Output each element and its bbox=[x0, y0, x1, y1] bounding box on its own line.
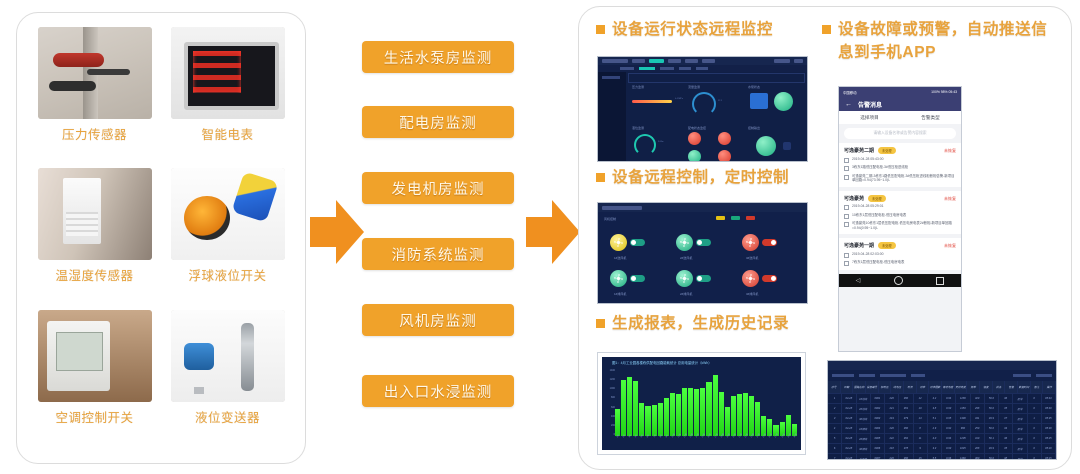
control-legend bbox=[716, 216, 755, 220]
app-filter-bar: 选择项目 告警类型 bbox=[839, 111, 961, 124]
fan-control-row bbox=[676, 270, 711, 287]
device-item: 浮球液位开关 bbox=[162, 168, 293, 307]
table-cell: 35 bbox=[999, 404, 1013, 413]
table-cell: 04-28 bbox=[842, 404, 856, 413]
table-cell: 3.8 bbox=[928, 404, 942, 413]
table-cell: 50.1 bbox=[985, 434, 999, 443]
subnav-item-active[interactable] bbox=[639, 67, 655, 70]
table-cell: 04-28 bbox=[842, 424, 856, 433]
section-title: 配电状态监控 bbox=[688, 126, 706, 130]
scenario-label-entrance-flood[interactable]: 出入口水浸监测 bbox=[362, 375, 514, 407]
table-cell: 0 bbox=[1028, 394, 1042, 403]
pump-card[interactable] bbox=[750, 93, 768, 109]
home-circle-icon[interactable] bbox=[894, 276, 903, 285]
feature-heading-text: 设备远程控制，定时控制 bbox=[612, 166, 789, 189]
phone-statusbar: 中国移动 100% 98% 05:43 bbox=[839, 87, 961, 97]
nav-logo bbox=[602, 59, 628, 63]
nav-item[interactable] bbox=[668, 59, 681, 63]
nav-item-active[interactable] bbox=[649, 59, 664, 63]
table-cell: 0.94 bbox=[942, 394, 956, 403]
table-cell: 0.95 bbox=[942, 414, 956, 423]
table-cell: 0003 bbox=[871, 414, 885, 423]
table-cell: 0007 bbox=[871, 454, 885, 460]
table-cell: 1#进线 bbox=[857, 394, 871, 403]
level-gauge bbox=[634, 134, 656, 156]
app-appbar: ← 告警消息 bbox=[839, 97, 961, 111]
toolbar-button[interactable] bbox=[1013, 374, 1031, 377]
legend-swatch-running bbox=[716, 216, 725, 220]
filter-alarm-type[interactable]: 告警类型 bbox=[921, 115, 939, 121]
filter-project[interactable]: 选择项目 bbox=[860, 115, 878, 121]
alarm-bullet-icon bbox=[844, 205, 849, 210]
table-cell: 1045 bbox=[956, 444, 970, 453]
toolbar-button[interactable] bbox=[832, 374, 854, 377]
table-cell: 10 bbox=[914, 404, 928, 413]
table-header-cell: 数据时间 bbox=[1018, 381, 1031, 393]
table-cell: 36 bbox=[999, 434, 1013, 443]
alarm-detail-text: 10栋东1层低压配电柜-低压电房电表 bbox=[852, 213, 906, 218]
chart-bar bbox=[743, 393, 748, 436]
table-cell: 35 bbox=[999, 444, 1013, 453]
alarm-list-item[interactable]: 可逸豪苑一期未处理未恢复2019-04-28 02:03:007栋东1层低压配电… bbox=[839, 238, 961, 270]
table-cell: 05:35 bbox=[1042, 414, 1056, 423]
dashboard-body: 压力监测 流量监测 水泵状态 0.42MPa 52.3 液位监测 配电状态监控 … bbox=[598, 72, 807, 161]
chart-y-tick: 800 bbox=[604, 396, 615, 399]
table-cell: 正常 bbox=[1013, 444, 1027, 453]
bullet-square-icon bbox=[596, 319, 605, 328]
table-grid: 序号日期回路名称设备编号相电压线电压电流功率功率因数有功电度无功电度频率温度状态… bbox=[828, 381, 1056, 459]
table-cell: 381 bbox=[899, 404, 913, 413]
infographic-stage: 压力传感器 智能电表 温湿度传感器 浮球液位开关 空调控制开关 液位变送器 bbox=[0, 0, 1080, 474]
alarm-project-name: 可逸豪苑一期 bbox=[844, 242, 874, 249]
alarm-detail-line: 可逸豪苑10栋东1层低压配电柜-低压电房电表2#断相-新项目单回路=0.94(0… bbox=[844, 221, 956, 230]
alarm-list: 可逸豪苑二期未处理未恢复2019-04-28 05:43:003栋东1路低压配电… bbox=[839, 143, 961, 270]
table-cell: 3#进线 bbox=[857, 414, 871, 423]
table-cell: 1205 bbox=[956, 434, 970, 443]
table-cell: 05:30 bbox=[1042, 424, 1056, 433]
table-row[interactable]: 304-283#进线0003219379145.10.95139034149.9… bbox=[828, 414, 1056, 424]
table-cell: 0.93 bbox=[942, 404, 956, 413]
bullet-square-icon bbox=[596, 25, 605, 34]
table-cell: 04-28 bbox=[842, 434, 856, 443]
table-cell: 14 bbox=[914, 414, 928, 423]
subnav-item[interactable] bbox=[696, 67, 708, 70]
table-header-cell: 告警 bbox=[1005, 381, 1018, 393]
alarm-status: 未恢复 bbox=[944, 148, 956, 154]
pressure-slider[interactable] bbox=[632, 100, 672, 103]
table-header-cell: 序号 bbox=[828, 381, 841, 393]
scenario-label-fire-system[interactable]: 消防系统监测 bbox=[362, 238, 514, 270]
alarm-bullet-icon bbox=[844, 222, 849, 227]
table-cell: 1280 bbox=[956, 394, 970, 403]
feature-heading-monitoring: 设备运行状态远程监控 bbox=[596, 18, 806, 41]
phone-navbar: ◁ bbox=[839, 274, 961, 287]
alarm-detail-text: 2019-04-28 05:29:01 bbox=[852, 204, 883, 209]
alarm-detail-line: 7栋东1层低压配电柜-低压电房电表 bbox=[844, 260, 956, 266]
table-header-cell: 有功电度 bbox=[942, 381, 955, 393]
table-cell: 04-28 bbox=[842, 414, 856, 423]
table-cell: 360 bbox=[971, 454, 985, 460]
chart-y-tick: 600 bbox=[604, 406, 615, 409]
chart-bar bbox=[688, 388, 693, 436]
alarm-detail-line: 2019-04-28 05:29:01 bbox=[844, 204, 956, 210]
feature-heading-alarm-push: 设备故障或预警，自动推送信息到手机APP bbox=[822, 18, 1058, 65]
alarm-bullet-icon bbox=[844, 158, 849, 163]
table-row[interactable]: 204-282#进线0002221381103.80.93115029850.0… bbox=[828, 404, 1056, 414]
table-cell: 37 bbox=[999, 414, 1013, 423]
table-cell: 正常 bbox=[1013, 394, 1027, 403]
alarm-detail-text: 可逸豪苑10栋东1层低压配电柜-低压电房电表2#断相-新项目单回路=0.94(0… bbox=[852, 221, 956, 230]
table-cell: 正常 bbox=[1013, 424, 1027, 433]
subnav-item[interactable] bbox=[679, 67, 691, 70]
device-item: 空调控制开关 bbox=[29, 310, 160, 449]
table-cell: 1460 bbox=[956, 454, 970, 460]
fan-icon[interactable] bbox=[610, 234, 627, 251]
chart-plot-area bbox=[615, 369, 797, 436]
chart-bar bbox=[737, 394, 742, 436]
table-cell: 04-28 bbox=[842, 444, 856, 453]
mobile-app-screenshot: 中国移动 100% 98% 05:43 ← 告警消息 选择项目 告警类型 请输入… bbox=[838, 86, 962, 352]
chart-bar bbox=[694, 389, 699, 436]
table-header-cell: 无功电度 bbox=[955, 381, 968, 393]
table-cell: 222 bbox=[885, 434, 899, 443]
table-cell: 15 bbox=[914, 454, 928, 460]
fan-toggle[interactable] bbox=[630, 275, 645, 282]
temp-humidity-sensor-photo bbox=[38, 168, 152, 260]
table-cell: 2.9 bbox=[928, 424, 942, 433]
table-header-cell: 功率因数 bbox=[929, 381, 942, 393]
table-cell: 05:15 bbox=[1042, 454, 1056, 460]
gauge-value: 0.42MPa bbox=[675, 98, 683, 100]
report-table-screenshot: 序号日期回路名称设备编号相电压线电压电流功率功率因数有功电度无功电度频率温度状态… bbox=[827, 360, 1057, 460]
alarm-detail-text: 2019-04-28 02:03:00 bbox=[852, 252, 883, 257]
table-cell: 49.9 bbox=[985, 414, 999, 423]
table-cell: 05:25 bbox=[1042, 434, 1056, 443]
section-title: 水泵状态 bbox=[748, 85, 760, 89]
table-cell: 380 bbox=[899, 424, 913, 433]
bullet-square-icon bbox=[596, 173, 605, 182]
recents-square-icon[interactable] bbox=[936, 277, 944, 285]
fan-icon[interactable] bbox=[676, 234, 693, 251]
scenario-label-generator[interactable]: 发电机房监测 bbox=[362, 172, 514, 204]
status-indicator bbox=[688, 150, 701, 162]
nav-item[interactable] bbox=[702, 59, 715, 63]
fan-label: 2#排风机 bbox=[680, 292, 692, 296]
gauge-value: 3.68m bbox=[658, 141, 664, 143]
fan-toggle[interactable] bbox=[762, 275, 777, 282]
fan-label: 1#排风机 bbox=[614, 292, 626, 296]
table-row[interactable]: 104-281#进线0001220380124.20.94128032050.0… bbox=[828, 394, 1056, 404]
table-header-cell: 电流 bbox=[904, 381, 917, 393]
alarm-list-item[interactable]: 可逸豪苑未处理未恢复2019-04-28 05:29:0110栋东1层低压配电柜… bbox=[839, 191, 961, 235]
section-title: 压力监测 bbox=[632, 85, 644, 89]
chart-y-tick: 1200 bbox=[604, 378, 615, 381]
table-cell: 379 bbox=[899, 414, 913, 423]
alarm-detail-text: 可逸豪苑二期-3栋东1路低压配电柜-3#低压柜进线柜断相告警-新项目单回路=0.… bbox=[852, 174, 956, 183]
chart-y-axis: 1400120010008006004002000 bbox=[604, 369, 615, 436]
table-cell: 3#馈线 bbox=[857, 444, 871, 453]
chart-bar bbox=[731, 396, 736, 436]
table-cell: 正常 bbox=[1013, 434, 1027, 443]
alarm-badge: 未处理 bbox=[868, 195, 886, 202]
report-chart-screenshot: 图1：4月工业园各楼栋供配电回路能耗统计 总用电量统计（kWh） 1400120… bbox=[597, 352, 806, 455]
section-title: 控制输出 bbox=[748, 126, 760, 130]
bar-chart: 图1：4月工业园各楼栋供配电回路能耗统计 总用电量统计（kWh） 1400120… bbox=[602, 357, 801, 450]
table-cell: 298 bbox=[971, 404, 985, 413]
fan-control-row bbox=[610, 234, 645, 251]
device-caption: 温湿度传感器 bbox=[55, 265, 133, 284]
table-header-cell: 设备编号 bbox=[866, 381, 879, 393]
fan-control-row bbox=[742, 270, 777, 287]
status-icons: 100% 98% 05:43 bbox=[931, 90, 957, 94]
feature-heading-text: 设备故障或预警，自动推送信息到手机APP bbox=[838, 18, 1058, 65]
table-cell: 4 bbox=[828, 424, 842, 433]
device-caption: 浮球液位开关 bbox=[188, 265, 266, 284]
chart-y-tick: 1000 bbox=[604, 387, 615, 390]
table-cell: 6 bbox=[828, 444, 842, 453]
device-caption: 液位变送器 bbox=[195, 407, 260, 426]
device-item: 压力传感器 bbox=[29, 27, 160, 166]
table-cell: 11 bbox=[914, 434, 928, 443]
app-title: 告警消息 bbox=[858, 100, 882, 109]
fan-icon[interactable] bbox=[742, 270, 759, 287]
gauge-value: 52.3 bbox=[718, 100, 722, 102]
legend-swatch-stopped bbox=[731, 216, 740, 220]
chart-bar bbox=[749, 396, 754, 436]
pressure-sensor-photo bbox=[38, 27, 152, 119]
alarm-detail-line: 可逸豪苑二期-3栋东1路低压配电柜-3#低压柜进线柜断相告警-新项目单回路=0.… bbox=[844, 174, 956, 183]
table-header-cell: 线电压 bbox=[891, 381, 904, 393]
table-cell: 0.94 bbox=[942, 434, 956, 443]
feature-heading-text: 设备运行状态远程监控 bbox=[612, 18, 773, 41]
table-cell: 268 bbox=[971, 444, 985, 453]
table-cell: 2#馈线 bbox=[857, 434, 871, 443]
alarm-bullet-icon bbox=[844, 253, 849, 258]
table-cell: 0.92 bbox=[942, 424, 956, 433]
table-cell: 0 bbox=[1028, 454, 1042, 460]
table-header-cell: 功率 bbox=[917, 381, 930, 393]
table-cell: 0001 bbox=[871, 394, 885, 403]
alarm-header: 可逸豪苑二期未处理 bbox=[844, 147, 956, 154]
table-cell: 380 bbox=[899, 394, 913, 403]
toolbar-button[interactable] bbox=[911, 374, 925, 377]
fan-icon[interactable] bbox=[742, 234, 759, 251]
table-row[interactable]: 604-283#馈线000621837893.30.93104526849.93… bbox=[828, 444, 1056, 454]
table-cell: 4.0 bbox=[928, 434, 942, 443]
fan-label: 2#送风机 bbox=[680, 256, 692, 260]
table-cell: 0.93 bbox=[942, 444, 956, 453]
fan-toggle[interactable] bbox=[762, 239, 777, 246]
nav-item[interactable] bbox=[632, 59, 645, 63]
table-cell: 5.5 bbox=[928, 454, 942, 460]
smart-meter-photo bbox=[171, 27, 285, 119]
fan-control-row bbox=[610, 270, 645, 287]
table-cell: 1390 bbox=[956, 414, 970, 423]
table-cell: 7 bbox=[828, 454, 842, 460]
table-cell: 50.0 bbox=[985, 394, 999, 403]
table-cell: 正常 bbox=[1013, 404, 1027, 413]
table-cell: 04-28 bbox=[842, 454, 856, 460]
dashboard-navbar bbox=[598, 57, 807, 65]
alarm-detail-line: 2019-04-28 05:43:00 bbox=[844, 157, 956, 163]
alarm-detail-text: 3栋东1路低压配电柜-3#低压柜进线柜 bbox=[852, 165, 908, 170]
control-group-label: 风机控制 bbox=[604, 217, 616, 221]
alarm-project-name: 可逸豪苑二期 bbox=[844, 147, 874, 154]
breadcrumb bbox=[628, 73, 805, 83]
table-cell: 05:40 bbox=[1042, 404, 1056, 413]
table-toolbar bbox=[828, 370, 1056, 381]
table-cell: 36 bbox=[999, 394, 1013, 403]
table-cell: 0004 bbox=[871, 424, 885, 433]
table-cell: 0 bbox=[1028, 434, 1042, 443]
alarm-bullet-icon bbox=[844, 166, 849, 171]
chart-y-tick: 0 bbox=[604, 433, 615, 436]
table-cell: 1#馈线 bbox=[857, 424, 871, 433]
table-cell: 50.0 bbox=[985, 404, 999, 413]
status-indicator bbox=[718, 132, 731, 145]
table-cell: 50.0 bbox=[985, 424, 999, 433]
fan-icon[interactable] bbox=[610, 270, 627, 287]
table-header-cell: 相电压 bbox=[879, 381, 892, 393]
table-cell: 219 bbox=[885, 414, 899, 423]
nav-item[interactable] bbox=[685, 59, 698, 63]
chart-bar bbox=[664, 398, 669, 436]
fan-control-row bbox=[742, 234, 777, 251]
chart-x-axis: 1栋2栋3栋4栋5栋6栋7栋8栋9栋10栋11栋12栋13栋14栋15栋16栋1… bbox=[615, 436, 797, 448]
sidebar-item[interactable] bbox=[602, 76, 620, 79]
device-panel: 压力传感器 智能电表 温湿度传感器 浮球液位开关 空调控制开关 液位变送器 bbox=[16, 12, 306, 464]
fan-toggle[interactable] bbox=[696, 239, 711, 246]
output-button[interactable] bbox=[783, 142, 791, 150]
status-indicator bbox=[688, 132, 701, 145]
pump-status-indicator bbox=[774, 92, 793, 111]
table-cell: 378 bbox=[899, 444, 913, 453]
table-cell: 220 bbox=[885, 394, 899, 403]
table-cell: 380 bbox=[899, 454, 913, 460]
table-row[interactable]: 504-282#馈线0005222382114.00.94120531050.1… bbox=[828, 434, 1056, 444]
flow-gauge bbox=[692, 92, 716, 116]
table-header-cell: 备注 bbox=[1031, 381, 1044, 393]
level-transmitter-photo bbox=[171, 310, 285, 402]
table-cell: 水泵房 bbox=[857, 454, 871, 460]
table-header-cell: 操作 bbox=[1043, 381, 1056, 393]
alarm-project-name: 可逸豪苑 bbox=[844, 195, 864, 202]
table-cell: 220 bbox=[885, 424, 899, 433]
dashboard-screenshot: 压力监测 流量监测 水泵状态 0.42MPa 52.3 液位监测 配电状态监控 … bbox=[597, 56, 808, 162]
control-panel-title bbox=[602, 206, 642, 210]
chart-bar bbox=[706, 382, 711, 436]
fan-label: 3#排风机 bbox=[746, 292, 758, 296]
table-cell: 5 bbox=[828, 434, 842, 443]
back-arrow-icon[interactable]: ← bbox=[845, 101, 852, 108]
back-triangle-icon[interactable]: ◁ bbox=[856, 277, 861, 284]
table-cell: 12 bbox=[914, 394, 928, 403]
subnav-item[interactable] bbox=[620, 67, 634, 70]
ac-control-switch-photo bbox=[38, 310, 152, 402]
table-cell: 0 bbox=[1028, 404, 1042, 413]
feature-heading-text: 生成报表，生成历史记录 bbox=[612, 312, 789, 335]
scenario-label-fan-room[interactable]: 风机房监测 bbox=[362, 304, 514, 336]
nav-user[interactable] bbox=[774, 59, 790, 63]
toolbar-button[interactable] bbox=[880, 374, 906, 377]
chart-bar bbox=[719, 392, 724, 437]
alarm-bullet-icon bbox=[844, 214, 849, 219]
alarm-badge: 未处理 bbox=[878, 147, 896, 154]
fan-label: 3#送风机 bbox=[746, 256, 758, 260]
table-cell: 9 bbox=[914, 444, 928, 453]
table-cell: 0 bbox=[1028, 424, 1042, 433]
table-cell: 218 bbox=[885, 444, 899, 453]
feature-heading-remote-control: 设备远程控制，定时控制 bbox=[596, 166, 816, 189]
section-title: 流量监测 bbox=[688, 85, 700, 89]
fan-toggle[interactable] bbox=[630, 239, 645, 246]
float-level-switch-photo bbox=[171, 168, 285, 260]
chart-bar bbox=[682, 388, 687, 436]
table-cell: 1150 bbox=[956, 404, 970, 413]
subnav-item[interactable] bbox=[660, 67, 674, 70]
alarm-badge: 未处理 bbox=[878, 242, 896, 249]
control-titlebar bbox=[598, 203, 807, 212]
table-row[interactable]: 704-28水泵房0007220380155.50.96146036050.03… bbox=[828, 454, 1056, 460]
fan-icon[interactable] bbox=[676, 270, 693, 287]
table-row[interactable]: 404-281#馈线000422038082.90.9298025050.034… bbox=[828, 424, 1056, 434]
output-indicator bbox=[756, 136, 776, 156]
fan-toggle[interactable] bbox=[696, 275, 711, 282]
status-indicator bbox=[718, 150, 731, 162]
table-header-cell: 日期 bbox=[841, 381, 854, 393]
alarm-status: 未恢复 bbox=[944, 196, 956, 202]
alarm-detail-text: 2019-04-28 05:43:00 bbox=[852, 157, 883, 162]
scenario-label-power-room[interactable]: 配电房监测 bbox=[362, 106, 514, 138]
alarm-bullet-icon bbox=[844, 261, 849, 266]
table-cell: 04-28 bbox=[842, 394, 856, 403]
scenario-label-water-pump[interactable]: 生活水泵房监测 bbox=[362, 41, 514, 73]
device-item: 液位变送器 bbox=[162, 310, 293, 449]
fan-control-row bbox=[676, 234, 711, 251]
alarm-detail-text: 7栋东1层低压配电柜-低压电房电表 bbox=[852, 260, 904, 265]
table-cell: 221 bbox=[885, 404, 899, 413]
chart-bar bbox=[670, 393, 675, 436]
table-cell: 3.3 bbox=[928, 444, 942, 453]
toolbar-button[interactable] bbox=[1036, 374, 1052, 377]
chart-bar bbox=[621, 380, 626, 436]
table-cell: 34 bbox=[999, 424, 1013, 433]
toolbar-button[interactable] bbox=[859, 374, 875, 377]
table-cell: 1 bbox=[828, 394, 842, 403]
device-caption: 压力传感器 bbox=[62, 124, 127, 143]
table-cell: 220 bbox=[885, 454, 899, 460]
table-cell: 382 bbox=[899, 434, 913, 443]
control-body: 风机控制 1#送风机 2#送风机 3#送风机 bbox=[598, 212, 807, 303]
table-cell: 0 bbox=[1028, 444, 1042, 453]
table-titlebar bbox=[828, 361, 1056, 370]
table-cell: 250 bbox=[971, 424, 985, 433]
table-cell: 0002 bbox=[871, 404, 885, 413]
alarm-list-item[interactable]: 可逸豪苑二期未处理未恢复2019-04-28 05:43:003栋东1路低压配电… bbox=[839, 143, 961, 187]
table-cell: 5.1 bbox=[928, 414, 942, 423]
table-cell: 05:20 bbox=[1042, 444, 1056, 453]
table-cell: 3 bbox=[828, 414, 842, 423]
nav-logout[interactable] bbox=[794, 59, 803, 63]
dashboard-subnav bbox=[598, 65, 807, 72]
chart-bar bbox=[676, 394, 681, 436]
alarm-detail-line: 3栋东1路低压配电柜-3#低压柜进线柜 bbox=[844, 165, 956, 171]
table-cell: 0006 bbox=[871, 444, 885, 453]
table-cell: 正常 bbox=[1013, 454, 1027, 460]
search-input[interactable]: 请输入设备名称或告警内容搜索 bbox=[844, 128, 956, 139]
table-header-cell: 频率 bbox=[967, 381, 980, 393]
chart-title: 图1：4月工业园各楼栋供配电回路能耗统计 总用电量统计（kWh） bbox=[612, 360, 712, 365]
